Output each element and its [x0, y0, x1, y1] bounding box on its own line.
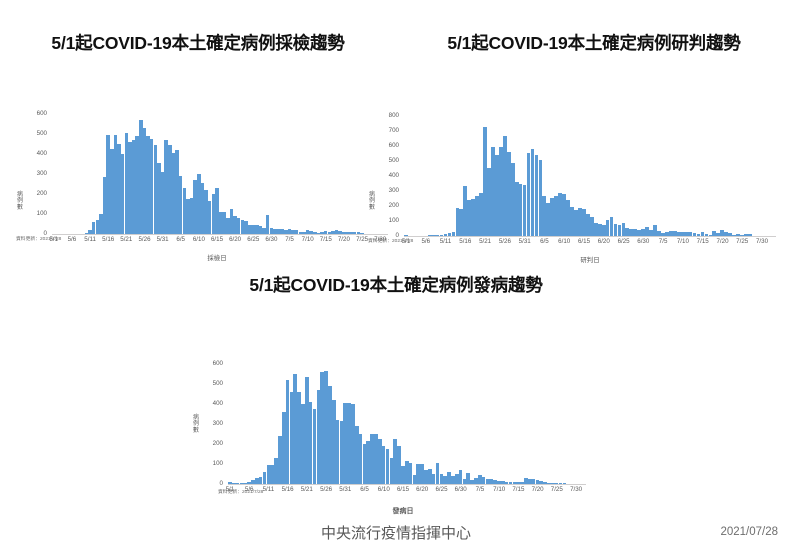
xtick: 6/30 [455, 487, 467, 493]
xtick: 7/15 [512, 487, 524, 493]
data-update-note-collection-date: 資料更新：2021/7/28 [16, 235, 61, 242]
footer-date: 2021/07/28 [720, 526, 778, 538]
xtick: 7/5 [659, 239, 668, 245]
ytick-200: 200 [201, 441, 223, 447]
xaxis-label-onset-date: 發病日 [393, 506, 414, 516]
xtick: 6/10 [193, 237, 205, 243]
bar-series-report-date [404, 115, 764, 236]
xtick: 7/25 [551, 487, 563, 493]
xtick: 6/5 [540, 239, 549, 245]
plot-wrap-collection-date: 病例數 600 500 400 300 200 100 0 5/15/65/11… [0, 65, 396, 245]
chart-block-report-date: 5/1起COVID-19本土確定病例研判趨勢 病例數 800 700 600 5… [396, 30, 792, 245]
xtick: 5/16 [102, 237, 114, 243]
yaxis-label-collection-date: 病例數 [16, 192, 24, 211]
chart-block-onset-date: 5/1起COVID-19本土確定病例發病趨勢 病例數 600 500 400 3… [196, 272, 596, 503]
xtick: 6/10 [378, 487, 390, 493]
xtick: 5/31 [339, 487, 351, 493]
slide-root: { "slide": { "footer_org": "中央流行疫情指揮中心",… [0, 0, 792, 560]
xtick: 6/5 [176, 237, 185, 243]
x-axis-line-collection-date [52, 234, 388, 235]
ytick-300: 300 [25, 171, 47, 177]
chart-title-onset-date: 5/1起COVID-19本土確定病例發病趨勢 [196, 272, 596, 297]
plot-area-collection-date [52, 113, 382, 234]
xtick: 7/10 [493, 487, 505, 493]
data-update-note-onset-date: 資料更新：2021/7/28 [218, 488, 263, 495]
xaxis-label-report-date: 研判日 [580, 255, 599, 264]
xtick: 6/25 [247, 237, 259, 243]
xtick: 5/21 [479, 239, 491, 245]
xtick: 5/26 [499, 239, 511, 245]
xtick: 5/11 [440, 239, 452, 245]
ytick-200: 200 [25, 191, 47, 197]
xtick: 7/10 [677, 239, 689, 245]
plot-area-report-date [404, 115, 764, 236]
xtick: 7/30 [756, 239, 768, 245]
ytick-100: 100 [201, 461, 223, 467]
xtick: 5/6 [421, 239, 430, 245]
xtick: 6/5 [360, 487, 369, 493]
ytick-600: 600 [377, 143, 399, 149]
bar-series-onset-date [228, 363, 578, 484]
chart-title-report-date: 5/1起COVID-19本土確定病例研判趨勢 [396, 30, 792, 55]
data-update-note-report-date: 資料更新：2021/7/28 [368, 237, 413, 244]
xtick: 6/10 [558, 239, 570, 245]
xtick: 6/25 [618, 239, 630, 245]
yaxis-label-onset-date: 病例數 [192, 415, 200, 434]
xtick: 6/30 [265, 237, 277, 243]
ytick-500: 500 [377, 158, 399, 164]
ytick-300: 300 [201, 421, 223, 427]
ytick-800: 800 [377, 113, 399, 119]
xtick: 7/20 [338, 237, 350, 243]
plot-wrap-report-date: 病例數 800 700 600 500 400 300 200 100 0 5/… [396, 65, 792, 245]
footer-organization: 中央流行疫情指揮中心 [0, 522, 792, 543]
chart-block-collection-date: 5/1起COVID-19本土確定病例採檢趨勢 病例數 600 500 400 3… [0, 30, 396, 245]
plot-area-onset-date [228, 363, 578, 484]
bar-series-collection-date [52, 113, 382, 234]
xtick: 6/30 [637, 239, 649, 245]
xtick: 7/15 [320, 237, 332, 243]
xtick: 7/20 [716, 239, 728, 245]
chart-title-collection-date: 5/1起COVID-19本土確定病例採檢趨勢 [0, 30, 396, 55]
xtick: 7/10 [302, 237, 314, 243]
xtick: 7/5 [476, 487, 485, 493]
xtick: 5/21 [120, 237, 132, 243]
xtick: 6/20 [229, 237, 241, 243]
xtick: 7/20 [532, 487, 544, 493]
xtick: 5/11 [84, 237, 96, 243]
xtick: 7/30 [570, 487, 582, 493]
ytick-700: 700 [377, 128, 399, 134]
ytick-100: 100 [25, 211, 47, 217]
xtick: 7/15 [697, 239, 709, 245]
plot-wrap-onset-date: 病例數 600 500 400 300 200 100 0 5/15/65/11… [196, 313, 596, 503]
ytick-0: 0 [201, 481, 223, 487]
xtick: 5/21 [301, 487, 313, 493]
xtick: 5/31 [157, 237, 169, 243]
xtick: 5/31 [519, 239, 531, 245]
xtick: 7/25 [356, 237, 368, 243]
xtick: 6/25 [435, 487, 447, 493]
xtick: 6/15 [578, 239, 590, 245]
ytick-400: 400 [201, 401, 223, 407]
xtick: 5/26 [138, 237, 150, 243]
ytick-500: 500 [201, 381, 223, 387]
xtick: 6/15 [397, 487, 409, 493]
ytick-400: 400 [25, 151, 47, 157]
xtick: 5/16 [459, 239, 471, 245]
xtick: 5/11 [263, 487, 275, 493]
ytick-500: 500 [25, 131, 47, 137]
xtick: 7/5 [285, 237, 294, 243]
ytick-200: 200 [377, 203, 399, 209]
xtick: 5/26 [320, 487, 332, 493]
xtick: 6/20 [598, 239, 610, 245]
xaxis-label-collection-date: 採檢日 [207, 253, 226, 262]
x-axis-line-report-date [404, 236, 776, 237]
xtick: 6/15 [211, 237, 223, 243]
ytick-600: 600 [25, 111, 47, 117]
ytick-100: 100 [377, 218, 399, 224]
ytick-300: 300 [377, 188, 399, 194]
xtick: 7/25 [736, 239, 748, 245]
ytick-400: 400 [377, 173, 399, 179]
xtick: 6/20 [416, 487, 428, 493]
yaxis-label-report-date: 病例數 [368, 192, 376, 211]
xtick: 5/6 [68, 237, 77, 243]
x-axis-line-onset-date [228, 484, 586, 485]
xtick: 5/16 [282, 487, 294, 493]
ytick-600: 600 [201, 361, 223, 367]
